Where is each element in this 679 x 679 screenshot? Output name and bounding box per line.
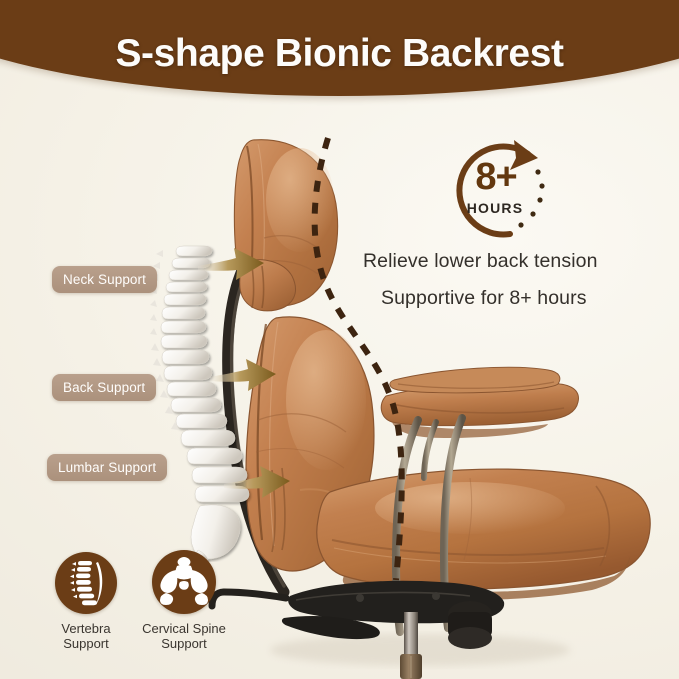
hours-unit-label: HOURS (436, 200, 554, 216)
feature-label-line1: Cervical Spine (128, 621, 240, 636)
hours-badge: 8+ HOURS (436, 134, 560, 244)
product-infographic: S-shape Bionic Backrest Neck Support Bac… (0, 0, 679, 679)
badge-back-support: Back Support (52, 374, 156, 401)
hours-number: 8+ (436, 156, 556, 199)
arrow-back (208, 355, 278, 397)
tilt-mechanism (212, 581, 504, 649)
feature-label-vertebra: Vertebra Support (30, 621, 142, 651)
feature-cervical-spine-support: Cervical Spine Support (128, 550, 240, 651)
badge-lumbar-support: Lumbar Support (47, 454, 167, 481)
feature-vertebra-support: Vertebra Support (30, 552, 142, 651)
dashed-s-curve-guide (290, 130, 430, 590)
arrow-lumbar (222, 462, 292, 504)
feature-label-line1: Vertebra (30, 621, 142, 636)
arrow-neck (196, 244, 266, 286)
badge-neck-support: Neck Support (52, 266, 157, 293)
feature-label-line2: Support (30, 636, 142, 651)
vertebra-spine-icon (55, 552, 117, 614)
marketing-line-2: Supportive for 8+ hours (381, 287, 587, 310)
cervical-vertebra-icon (152, 550, 216, 614)
feature-label-line2: Support (128, 636, 240, 651)
feature-label-cervical: Cervical Spine Support (128, 621, 240, 651)
marketing-line-1: Relieve lower back tension (363, 250, 598, 273)
page-title: S-shape Bionic Backrest (0, 32, 679, 76)
